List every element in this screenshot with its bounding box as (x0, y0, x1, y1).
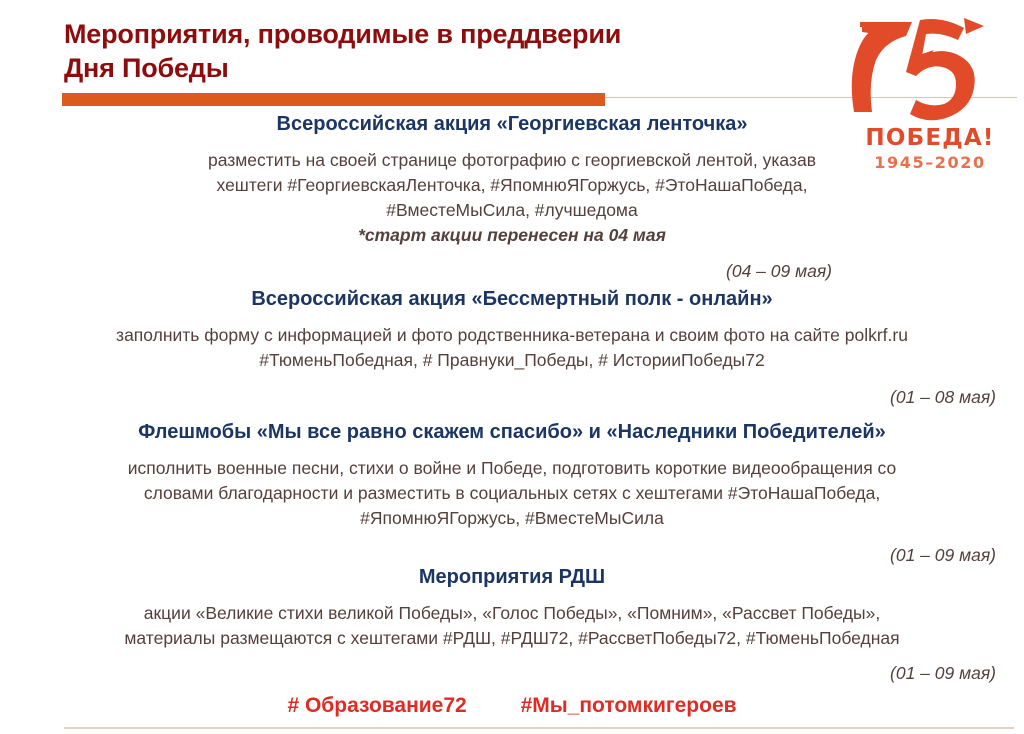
section-body-line: акции «Великие стихи великой Победы», «Г… (22, 601, 1002, 626)
section-date: (01 – 09 мая) (0, 663, 996, 684)
section-body: исполнить военные песни, стихи о войне и… (22, 456, 1002, 531)
title-orange-divider (62, 93, 605, 106)
section-heading: Флешмобы «Мы все равно скажем спасибо» и… (0, 420, 1024, 444)
section-body: разместить на своей странице фотографию … (80, 148, 944, 247)
page-title: Мероприятия, проводимые в преддверии Дня… (64, 17, 764, 85)
section-body-line: исполнить военные песни, стихи о войне и… (22, 456, 1002, 481)
section-body-line: заполнить форму с информацией и фото род… (22, 323, 1002, 348)
section-body: акции «Великие стихи великой Победы», «Г… (22, 601, 1002, 651)
section-body-line: материалы размещаются с хештегами #РДШ, … (22, 626, 1002, 651)
poster-page: Мероприятия, проводимые в преддверии Дня… (0, 0, 1024, 734)
section-body-line: #ВместеМыСила, #лучшедома (80, 198, 944, 223)
section-body-line: словами благодарности и разместить в соц… (22, 481, 1002, 506)
event-section: Всероссийская акция «Бессмертный полк - … (0, 287, 1024, 408)
footer-hashtags: # Образование72 #Мы_потомкигероев (287, 694, 736, 718)
section-body: заполнить форму с информацией и фото род… (22, 323, 1002, 373)
section-heading: Всероссийская акция «Георгиевская ленточ… (0, 112, 1024, 136)
footer-divider (64, 727, 1014, 729)
footer-hashtag-descendants: #Мы_потомкигероев (521, 694, 737, 717)
section-heading: Всероссийская акция «Бессмертный полк - … (0, 287, 1024, 311)
footer-hashtag-education72: # Образование72 (287, 694, 466, 717)
section-body-line: #ТюменьПобедная, # Правнуки_Победы, # Ис… (22, 348, 1002, 373)
section-body-line: хештеги #ГеоргиевскаяЛенточка, #ЯпомнюЯГ… (80, 173, 944, 198)
page-title-line-1: Мероприятия, проводимые в преддверии (64, 19, 621, 49)
section-date: (04 – 09 мая) (0, 261, 832, 282)
victory-75-emblem-icon (846, 12, 1014, 124)
section-date: (01 – 09 мая) (0, 545, 996, 566)
event-section: Всероссийская акция «Георгиевская ленточ… (0, 112, 1024, 282)
page-title-line-2: Дня Победы (64, 51, 764, 85)
event-section: Флешмобы «Мы все равно скажем спасибо» и… (0, 420, 1024, 566)
section-body-line: разместить на своей странице фотографию … (80, 148, 944, 173)
section-body-line: #ЯпомнюЯГоржусь, #ВместеМыСила (22, 506, 1002, 531)
event-section: Мероприятия РДШ акции «Великие стихи вел… (0, 565, 1024, 684)
footer: # Образование72 #Мы_потомкигероев (0, 694, 1024, 718)
section-date: (01 – 08 мая) (0, 387, 996, 408)
section-heading: Мероприятия РДШ (0, 565, 1024, 589)
section-note: *старт акции перенесен на 04 мая (80, 223, 944, 248)
